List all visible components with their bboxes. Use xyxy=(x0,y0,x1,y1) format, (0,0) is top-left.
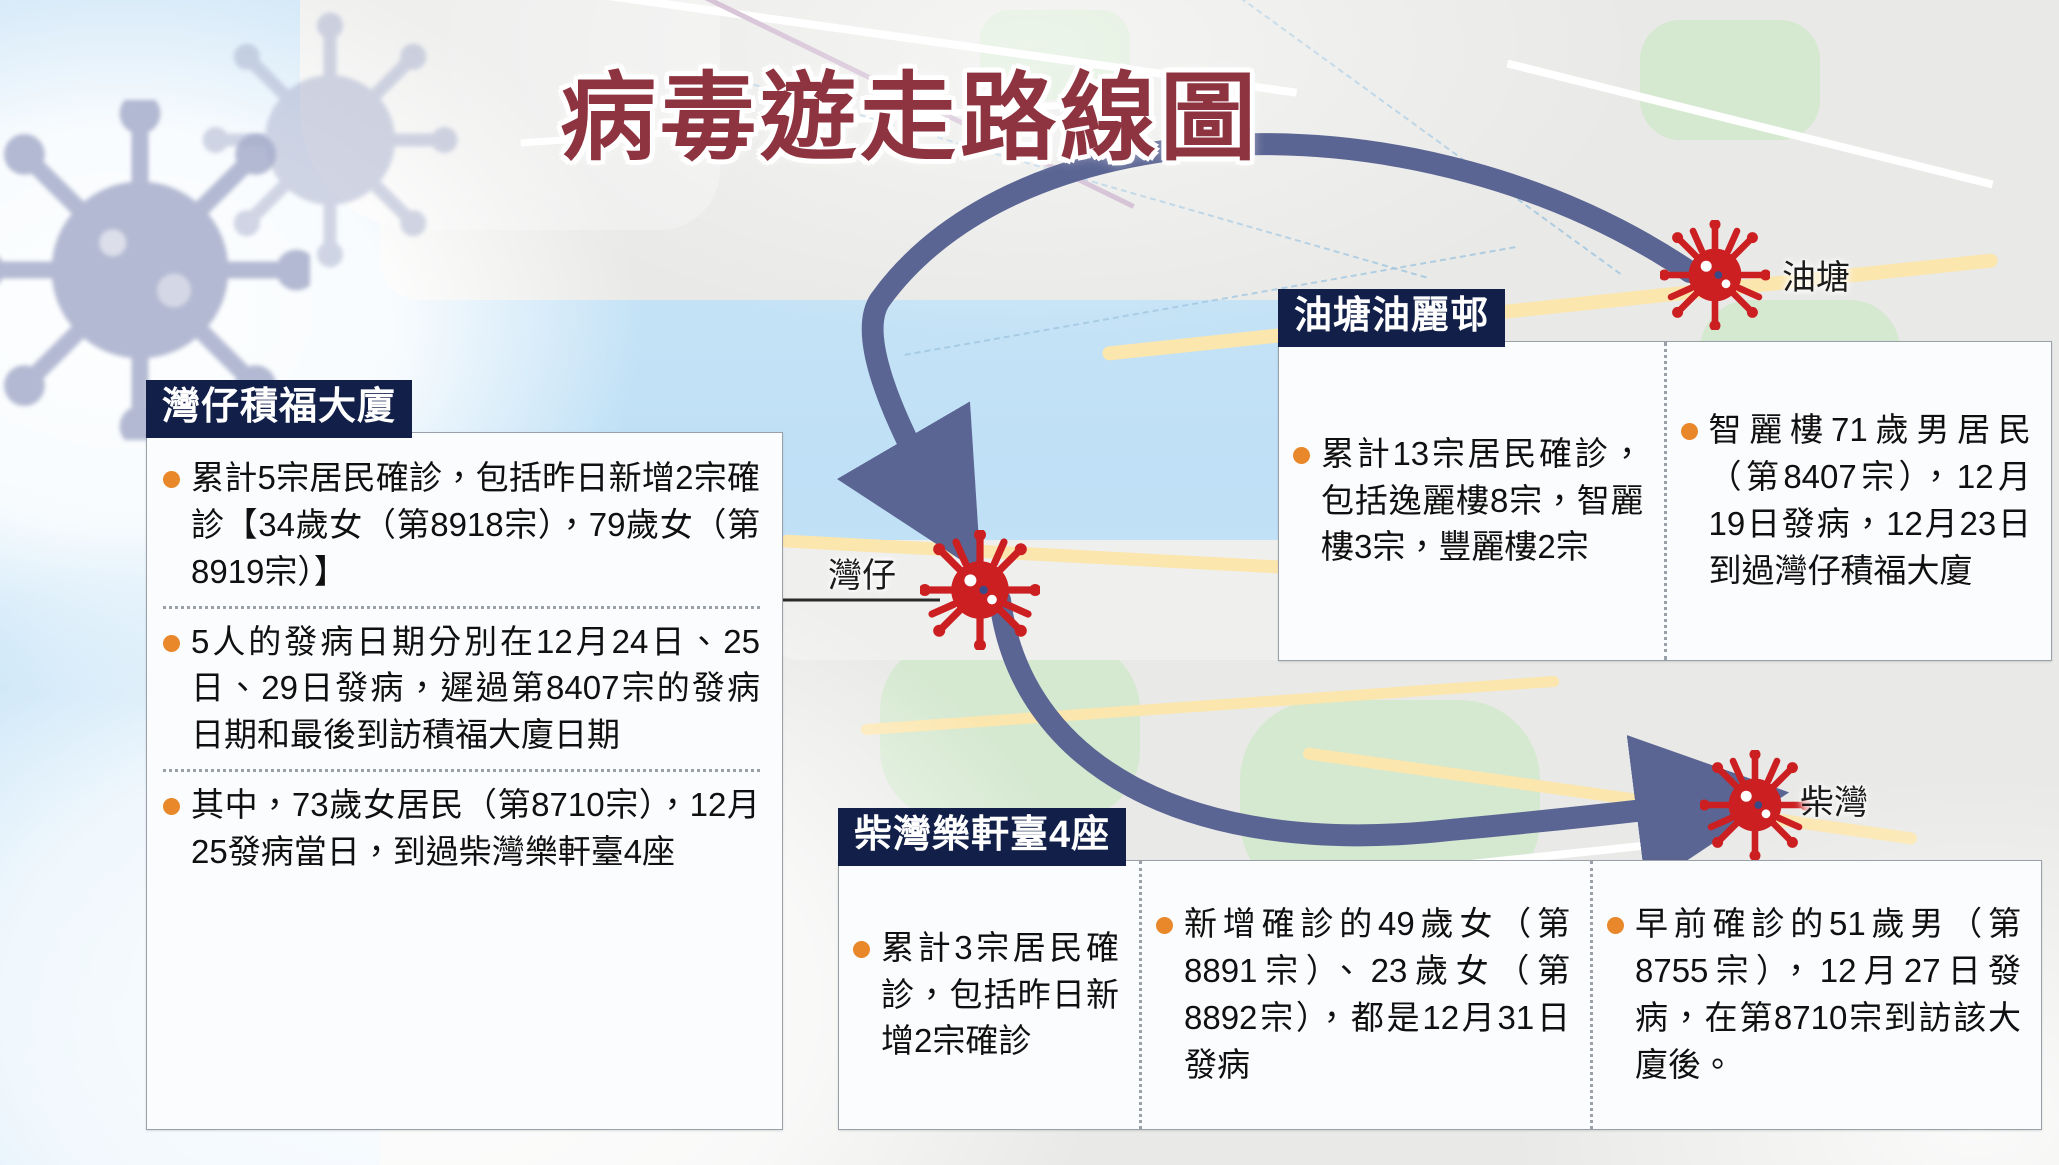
place-label-yautong: 油塘 xyxy=(1782,250,1850,299)
place-label-wanchai: 灣仔 xyxy=(828,548,896,597)
chaiwan-bullet-3: 早前確診的51歲男（第8755宗），12月27日發病，在第8710宗到訪該大廈後… xyxy=(1607,901,2021,1088)
page-title: 病毒遊走路線圖 xyxy=(560,40,1260,179)
infographic-canvas: 灣仔 油塘 柴灣 病毒遊走路線圖 灣仔積福大廈 累計5宗居民確診，包括昨日新增2… xyxy=(0,0,2059,1165)
bullet-dot-icon xyxy=(163,471,180,488)
chaiwan-column-3: 早前確診的51歲男（第8755宗），12月27日發病，在第8710宗到訪該大廈後… xyxy=(1590,861,2041,1129)
virus-marker-chaiwan xyxy=(1700,750,1810,860)
bullet-dot-icon xyxy=(1681,423,1698,440)
yautong-bullet-1: 累計13宗居民確診，包括逸麗樓8宗，智麗樓3宗，豐麗樓2宗 xyxy=(1293,431,1644,572)
wanchai-info-box: 累計5宗居民確診，包括昨日新增2宗確診【34歲女（第8918宗），79歲女（第8… xyxy=(146,432,783,1130)
bullet-dot-icon xyxy=(1607,917,1624,934)
wanchai-bullet-3: 其中，73歲女居民（第8710宗），12月25發病當日，到過柴灣樂軒臺4座 xyxy=(163,782,760,876)
chaiwan-box-header: 柴灣樂軒臺4座 xyxy=(838,808,1126,866)
yautong-column-2: 智麗樓71歲男居民（第8407宗），12月19日發病，12月23日到過灣仔積福大… xyxy=(1664,342,2052,660)
wanchai-bullet-1: 累計5宗居民確診，包括昨日新增2宗確診【34歲女（第8918宗），79歲女（第8… xyxy=(163,455,760,596)
virus-marker-yautong xyxy=(1660,220,1770,330)
wanchai-box-header: 灣仔積福大廈 xyxy=(146,380,412,438)
yautong-box-header: 油塘油麗邨 xyxy=(1278,289,1505,347)
virus-marker-wanchai xyxy=(920,530,1040,650)
yautong-column-1: 累計13宗居民確診，包括逸麗樓8宗，智麗樓3宗，豐麗樓2宗 xyxy=(1279,342,1664,660)
wanchai-divider-2 xyxy=(163,769,760,772)
chaiwan-bullet-1: 累計3宗居民確診，包括昨日新增2宗確診 xyxy=(853,925,1119,1066)
wanchai-bullets-column: 累計5宗居民確診，包括昨日新增2宗確診【34歲女（第8918宗），79歲女（第8… xyxy=(147,433,782,1129)
bullet-dot-icon xyxy=(163,798,180,815)
bullet-dot-icon xyxy=(163,635,180,652)
chaiwan-column-1: 累計3宗居民確診，包括昨日新增2宗確診 xyxy=(839,861,1139,1129)
yautong-info-box: 累計13宗居民確診，包括逸麗樓8宗，智麗樓3宗，豐麗樓2宗 智麗樓71歲男居民（… xyxy=(1278,341,2052,661)
bullet-dot-icon xyxy=(1293,447,1310,464)
wanchai-divider-1 xyxy=(163,606,760,609)
wanchai-bullet-2: 5人的發病日期分別在12月24日、25日、29日發病，遲過第8407宗的發病日期… xyxy=(163,619,760,760)
yautong-bullet-2: 智麗樓71歲男居民（第8407宗），12月19日發病，12月23日到過灣仔積福大… xyxy=(1681,407,2032,594)
bullet-dot-icon xyxy=(1156,917,1173,934)
chaiwan-info-box: 累計3宗居民確診，包括昨日新增2宗確診 新增確診的49歲女（第8891宗）、23… xyxy=(838,860,2042,1130)
chaiwan-bullet-2: 新增確診的49歲女（第8891宗）、23歲女（第8892宗），都是12月31日發… xyxy=(1156,901,1570,1088)
bullet-dot-icon xyxy=(853,941,870,958)
place-label-chaiwan: 柴灣 xyxy=(1800,775,1868,824)
chaiwan-column-2: 新增確診的49歲女（第8891宗）、23歲女（第8892宗），都是12月31日發… xyxy=(1139,861,1590,1129)
